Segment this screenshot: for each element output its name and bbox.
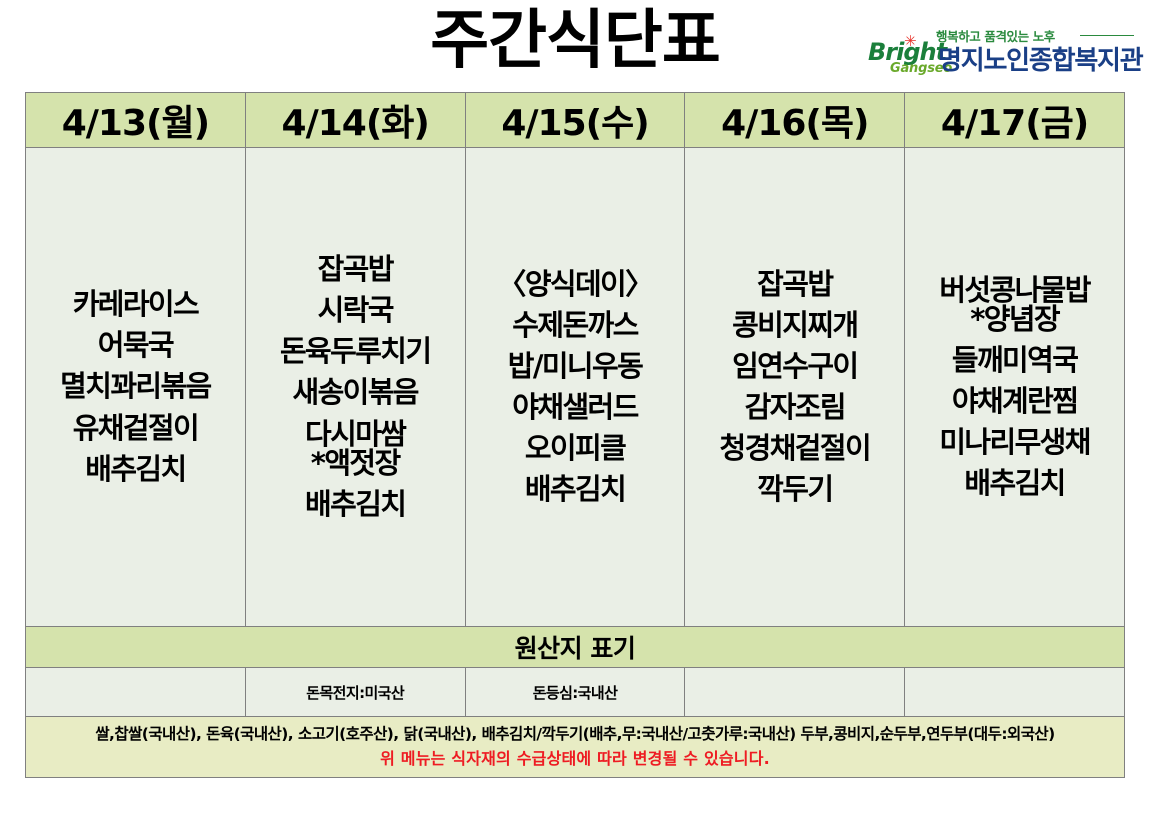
menu-cell-fri: 버섯콩나물밥 *양념장 들깨미역국 야채계란찜 미나리무생채 배추김치: [905, 148, 1125, 627]
origin-cell-tue: 돈목전지:미국산: [245, 668, 465, 717]
dish-item: 콩비지찌개: [732, 310, 857, 341]
dish-item: 청경채겉절이: [720, 433, 870, 464]
dish-list-mon: 카레라이스 어묵국 멸치꽈리볶음 유채겉절이 배추김치: [26, 148, 245, 626]
origin-cell-mon: [26, 668, 246, 717]
dish-list-thu: 잡곡밥 콩비지찌개 임연수구이 감자조림 청경채겉절이 깍두기: [685, 148, 904, 626]
dish-item: 임연수구이: [732, 351, 857, 382]
dish-item: 감자조림: [745, 392, 845, 423]
dish-list-fri: 버섯콩나물밥 *양념장 들깨미역국 야채계란찜 미나리무생채 배추김치: [905, 148, 1124, 626]
dish-item: 새송이볶음: [292, 377, 417, 408]
dish-item: 〈양식데이〉: [497, 269, 652, 300]
dish-item: 배추김치: [305, 489, 405, 520]
dish-list-wed: 〈양식데이〉 수제돈까스 밥/미니우동 야채샐러드 오이피클 배추김치: [466, 148, 685, 626]
weekly-meal-plan-page: 주간식단표 행복하고 품격있는 노후 Bright ✳ Gangseo 명지노인…: [0, 0, 1150, 813]
organization-name: 명지노인종합복지관: [938, 40, 1142, 77]
dish-item: 들깨미역국: [952, 345, 1077, 376]
document-header: 주간식단표 행복하고 품격있는 노후 Bright ✳ Gangseo 명지노인…: [0, 0, 1150, 88]
logo-tagline-rule: [1080, 35, 1134, 36]
dish-item: 배추김치: [964, 468, 1064, 499]
dish-list-tue: 잡곡밥 시락국 돈육두루치기 새송이볶음 다시마쌈 *액젓장 배추김치: [246, 148, 465, 626]
dish-item: 어묵국: [98, 330, 173, 361]
footer-row: 쌀,찹쌀(국내산), 돈육(국내산), 소고기(호주산), 닭(국내산), 배추…: [26, 717, 1125, 778]
origin-section-header: 원산지 표기: [26, 627, 1125, 668]
dish-item: 멸치꽈리볶음: [60, 371, 210, 402]
menu-cell-wed: 〈양식데이〉 수제돈까스 밥/미니우동 야채샐러드 오이피클 배추김치: [465, 148, 685, 627]
dish-item: 밥/미니우동: [508, 351, 642, 382]
day-header-mon: 4/13(월): [26, 93, 246, 148]
day-header-row: 4/13(월) 4/14(화) 4/15(수) 4/16(목) 4/17(금): [26, 93, 1125, 148]
menu-cell-thu: 잡곡밥 콩비지찌개 임연수구이 감자조림 청경채겉절이 깍두기: [685, 148, 905, 627]
menu-cell-tue: 잡곡밥 시락국 돈육두루치기 새송이볶음 다시마쌈 *액젓장 배추김치: [245, 148, 465, 627]
origin-cell-thu: [685, 668, 905, 717]
dish-item: 카레라이스: [73, 289, 198, 320]
dish-item: 돈육두루치기: [280, 336, 430, 367]
weekly-menu-table: 4/13(월) 4/14(화) 4/15(수) 4/16(목) 4/17(금) …: [25, 92, 1125, 778]
footer-disclaimer: 위 메뉴는 식자재의 수급상태에 따라 변경될 수 있습니다.: [26, 749, 1124, 770]
dish-item: 미나리무생채: [939, 427, 1089, 458]
dish-item: 다시마쌈: [305, 419, 405, 450]
dish-item: 시락국: [318, 295, 393, 326]
dish-item: *액젓장: [311, 448, 400, 479]
day-header-tue: 4/14(화): [245, 93, 465, 148]
dish-item: 잡곡밥: [757, 269, 832, 300]
origin-cell-fri: [905, 668, 1125, 717]
dish-item: 잡곡밥: [318, 254, 393, 285]
dish-item: 깍두기: [757, 474, 832, 505]
dish-item: 수제돈까스: [512, 310, 637, 341]
sparkle-icon: ✳: [904, 35, 917, 48]
menu-row: 카레라이스 어묵국 멸치꽈리볶음 유채겉절이 배추김치 잡곡밥 시락국 돈육두루…: [26, 148, 1125, 627]
origin-detail-row: 돈목전지:미국산 돈등심:국내산: [26, 668, 1125, 717]
organization-logo: 행복하고 품격있는 노후 Bright ✳ Gangseo 명지노인종합복지관: [868, 26, 1136, 82]
day-header-wed: 4/15(수): [465, 93, 685, 148]
dish-item: 유채겉절이: [73, 413, 198, 444]
menu-cell-mon: 카레라이스 어묵국 멸치꽈리볶음 유채겉절이 배추김치: [26, 148, 246, 627]
footer-block: 쌀,찹쌀(국내산), 돈육(국내산), 소고기(호주산), 닭(국내산), 배추…: [26, 717, 1125, 778]
dish-item: 배추김치: [85, 454, 185, 485]
day-header-thu: 4/16(목): [685, 93, 905, 148]
dish-item: *양념장: [970, 304, 1059, 335]
dish-item: 야채샐러드: [512, 392, 637, 423]
dish-item: 배추김치: [525, 474, 625, 505]
dish-item: 오이피클: [525, 433, 625, 464]
dish-item: 야채계란찜: [952, 386, 1077, 417]
origin-header-row: 원산지 표기: [26, 627, 1125, 668]
day-header-fri: 4/17(금): [905, 93, 1125, 148]
origin-cell-wed: 돈등심:국내산: [465, 668, 685, 717]
footer-origin-list: 쌀,찹쌀(국내산), 돈육(국내산), 소고기(호주산), 닭(국내산), 배추…: [26, 724, 1124, 745]
